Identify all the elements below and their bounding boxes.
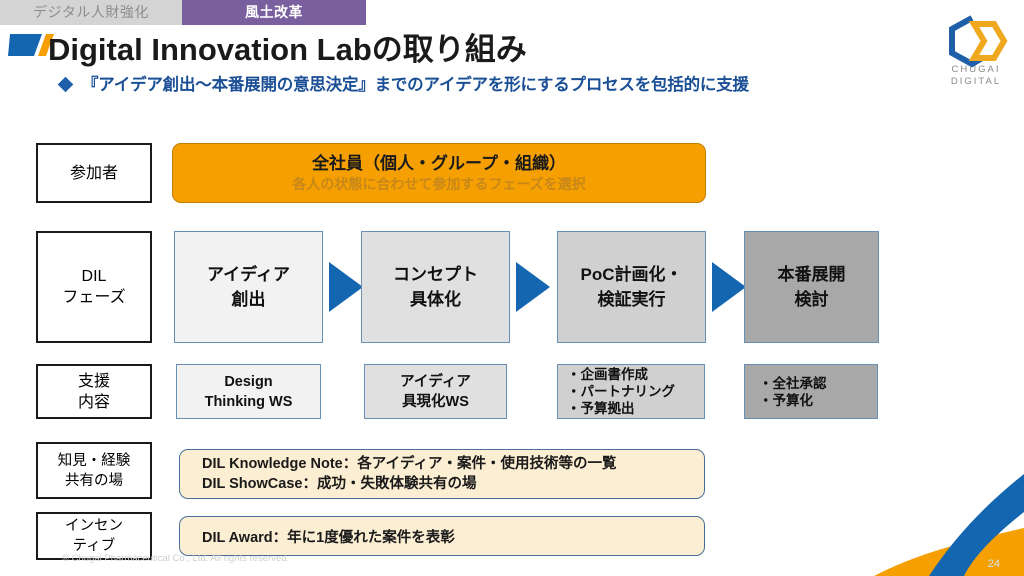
slide-canvas: デジタル人財強化 風土改革 Digital Innovation Labの取り組…	[0, 0, 1024, 576]
row-label-knowledge: 知見・経験 共有の場	[36, 442, 152, 499]
row-label-participants: 参加者	[36, 143, 152, 203]
phase-box-ideation-label: アイディア 創出	[207, 262, 290, 312]
row-label-incentive-text: インセン ティブ	[65, 516, 123, 556]
phase-box-poc-label: PoC計画化・ 検証実行	[581, 262, 683, 312]
tab-digital-talent[interactable]: デジタル人財強化	[0, 0, 182, 25]
phase-box-rollout: 本番展開 検討	[744, 231, 879, 343]
knowledge-banner: DIL Knowledge Note：各アイディア・案件・使用技術等の一覧 DI…	[179, 449, 705, 499]
support-rollout-list: ・全社承認 ・予算化	[759, 375, 827, 409]
logo-line-2: DIGITAL	[938, 76, 1014, 88]
phase-arrow-2-icon	[516, 262, 550, 312]
row-label-support-text: 支援 内容	[78, 371, 110, 413]
phase-box-ideation: アイディア 創出	[174, 231, 323, 343]
support-poc-list: ・企画書作成 ・パートナリング ・予算拠出	[567, 366, 675, 417]
participants-banner: 全社員（個人・グループ・組織） 各人の状態に合わせて参加するフェーズを選択	[172, 143, 706, 203]
knowledge-line-1: DIL Knowledge Note：各アイディア・案件・使用技術等の一覧	[202, 454, 616, 474]
row-label-knowledge-text: 知見・経験 共有の場	[58, 451, 131, 491]
support-box-rollout-list: ・全社承認 ・予算化	[744, 364, 878, 419]
phase-box-concept-label: コンセプト 具体化	[393, 262, 478, 312]
copyright-text: © Chugai Pharmaceutical Co., Ltd. All ri…	[62, 553, 289, 564]
tab-culture-reform[interactable]: 風土改革	[182, 0, 366, 25]
row-label-dil-phase-text: DIL フェーズ	[62, 266, 125, 308]
support-box-ideation-ws: アイディア 具現化WS	[364, 364, 507, 419]
participants-title: 全社員（個人・グループ・組織）	[312, 153, 566, 174]
list-item: ・予算化	[759, 392, 827, 409]
phase-arrow-1-icon	[329, 262, 363, 312]
support-box-poc-list: ・企画書作成 ・パートナリング ・予算拠出	[557, 364, 705, 419]
tab-culture-reform-label: 風土改革	[245, 4, 303, 20]
tab-digital-talent-label: デジタル人財強化	[33, 4, 149, 20]
phase-box-poc: PoC計画化・ 検証実行	[557, 231, 706, 343]
list-item: ・企画書作成	[567, 366, 675, 383]
section-tabs: デジタル人財強化 風土改革	[0, 0, 366, 25]
list-item: ・全社承認	[759, 375, 827, 392]
support-box-design-thinking-label: Design Thinking WS	[205, 372, 293, 412]
logo-wordmark: CHUGAI DIGITAL	[938, 64, 1014, 88]
phase-box-rollout-label: 本番展開 検討	[778, 262, 846, 312]
knowledge-lines: DIL Knowledge Note：各アイディア・案件・使用技術等の一覧 DI…	[202, 454, 616, 494]
support-box-ideation-ws-label: アイディア 具現化WS	[400, 372, 471, 412]
page-title: Digital Innovation Labの取り組み	[48, 24, 527, 69]
phase-box-concept: コンセプト 具体化	[361, 231, 510, 343]
page-number: 24	[988, 558, 1000, 570]
row-label-support: 支援 内容	[36, 364, 152, 419]
subtitle-row: 『アイデア創出～本番展開の意思決定』までのアイデアを形にするプロセスを包括的に支…	[0, 72, 1024, 98]
incentive-banner: DIL Award：年に1度優れた案件を表彰	[179, 516, 705, 556]
row-label-participants-text: 参加者	[70, 163, 118, 184]
row-label-dil-phase: DIL フェーズ	[36, 231, 152, 343]
participants-subtitle: 各人の状態に合わせて参加するフェーズを選択	[292, 175, 585, 194]
phase-arrow-3-icon	[712, 262, 746, 312]
list-item: ・予算拠出	[567, 400, 675, 417]
list-item: ・パートナリング	[567, 383, 675, 400]
support-box-design-thinking: Design Thinking WS	[176, 364, 321, 419]
bullet-diamond-icon	[58, 77, 74, 93]
page-subtitle: 『アイデア創出～本番展開の意思決定』までのアイデアを形にするプロセスを包括的に支…	[82, 71, 749, 95]
knowledge-line-2: DIL ShowCase：成功・失敗体験共有の場	[202, 474, 616, 494]
title-row: Digital Innovation Labの取り組み	[0, 26, 1024, 66]
logo-line-1: CHUGAI	[938, 64, 1014, 76]
incentive-line-1: DIL Award：年に1度優れた案件を表彰	[202, 526, 455, 547]
